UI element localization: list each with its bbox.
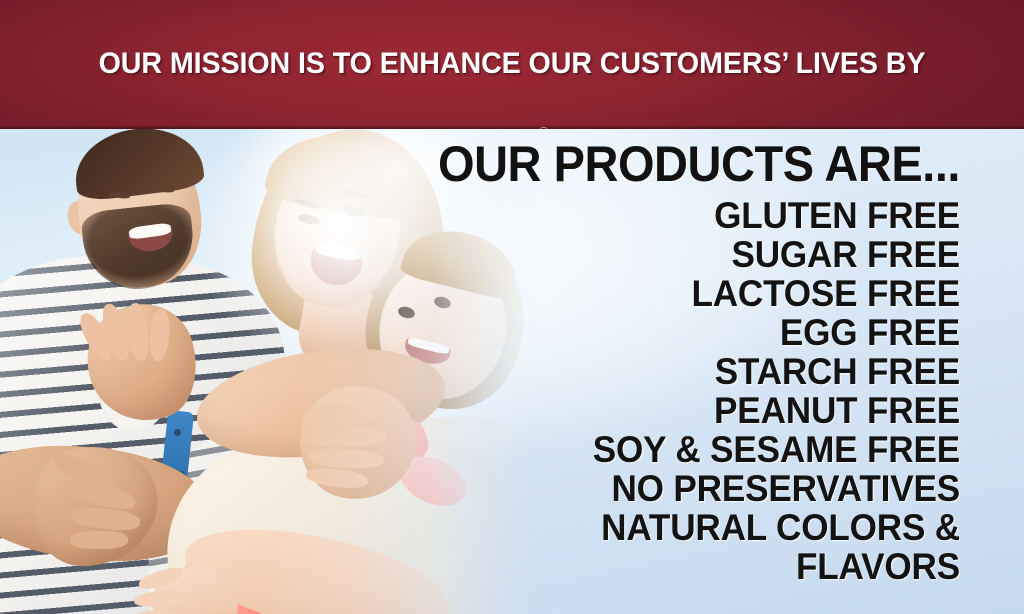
shirt-button-top	[174, 429, 181, 436]
list-item: SOY & SESAME FREE	[371, 430, 960, 469]
list-item: NATURAL COLORS &	[371, 508, 960, 547]
mission-line-2-before: PROVIDING PURE, ULTRA-TESTED	[59, 124, 538, 129]
mission-banner: OUR MISSION IS TO ENHANCE OUR CUSTOMERS’…	[0, 0, 1024, 129]
product-claims-block: OUR PRODUCTS ARE... GLUTEN FREE SUGAR FR…	[340, 138, 960, 586]
list-item: PEANUT FREE	[371, 391, 960, 430]
promotional-poster: OUR MISSION IS TO ENHANCE OUR CUSTOMERS’…	[0, 0, 1024, 614]
mission-line-1: OUR MISSION IS TO ENHANCE OUR CUSTOMERS’…	[99, 47, 926, 80]
list-item: SUGAR FREE	[371, 235, 960, 274]
registered-trademark-icon: ®	[538, 125, 549, 129]
list-item: EGG FREE	[371, 313, 960, 352]
product-claims-list: GLUTEN FREE SUGAR FREE LACTOSE FREE EGG …	[340, 196, 960, 586]
list-item: GLUTEN FREE	[371, 196, 960, 235]
products-heading: OUR PRODUCTS ARE...	[377, 138, 960, 190]
list-item: FLAVORS	[371, 547, 960, 586]
mission-statement-text: OUR MISSION IS TO ENHANCE OUR CUSTOMERS’…	[23, 11, 1001, 129]
man-finger-4	[70, 531, 128, 549]
list-item: LACTOSE FREE	[371, 274, 960, 313]
list-item: NO PRESERVATIVES	[371, 469, 960, 508]
list-item: STARCH FREE	[371, 352, 960, 391]
mission-line-2-after: SUPPLEMENTS AND BEING A	[549, 124, 965, 129]
